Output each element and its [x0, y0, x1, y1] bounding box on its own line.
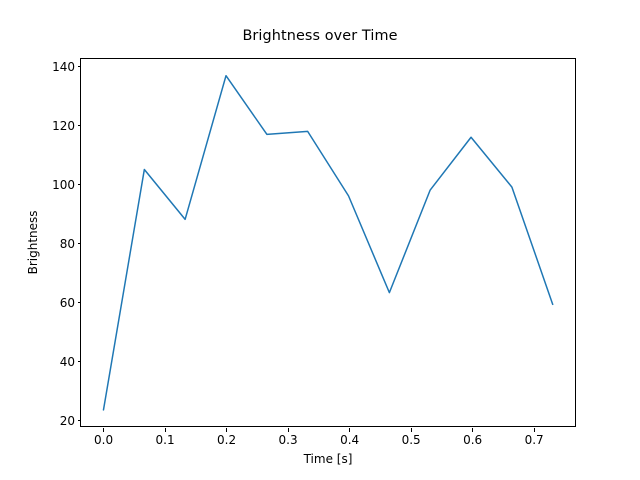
y-tick-label: 80 [60, 237, 75, 251]
y-tick-mark [78, 420, 82, 421]
y-axis-label: Brightness [26, 58, 40, 428]
x-tick-mark [103, 428, 104, 432]
x-tick-label: 0.4 [340, 433, 359, 447]
x-tick-mark [349, 428, 350, 432]
x-tick-mark [534, 428, 535, 432]
x-tick-label: 0.6 [463, 433, 482, 447]
y-tick-label: 40 [60, 355, 75, 369]
y-tick-mark [78, 361, 82, 362]
x-tick-label: 0.7 [525, 433, 544, 447]
x-axis-label: Time [s] [80, 452, 576, 466]
y-tick-mark [78, 243, 82, 244]
y-tick-label: 20 [60, 414, 75, 428]
figure-canvas: Brightness over Time 20406080100120140 0… [0, 0, 640, 480]
chart-title: Brightness over Time [0, 28, 640, 44]
y-tick-label: 100 [52, 178, 75, 192]
y-tick-label: 120 [52, 119, 75, 133]
brightness-line-series [103, 75, 552, 409]
x-tick-label: 0.0 [94, 433, 113, 447]
x-tick-mark [226, 428, 227, 432]
y-tick-mark [78, 184, 82, 185]
plot-axes: 20406080100120140 0.00.10.20.30.40.50.60… [80, 58, 576, 428]
y-tick-label: 60 [60, 296, 75, 310]
y-tick-label: 140 [52, 60, 75, 74]
x-tick-label: 0.1 [156, 433, 175, 447]
x-tick-mark [288, 428, 289, 432]
x-tick-mark [472, 428, 473, 432]
x-tick-mark [165, 428, 166, 432]
x-tick-mark [411, 428, 412, 432]
y-tick-mark [78, 302, 82, 303]
x-tick-label: 0.5 [402, 433, 421, 447]
x-tick-label: 0.3 [279, 433, 298, 447]
plot-area [81, 59, 575, 427]
x-tick-label: 0.2 [217, 433, 236, 447]
y-tick-mark [78, 66, 82, 67]
y-tick-mark [78, 125, 82, 126]
